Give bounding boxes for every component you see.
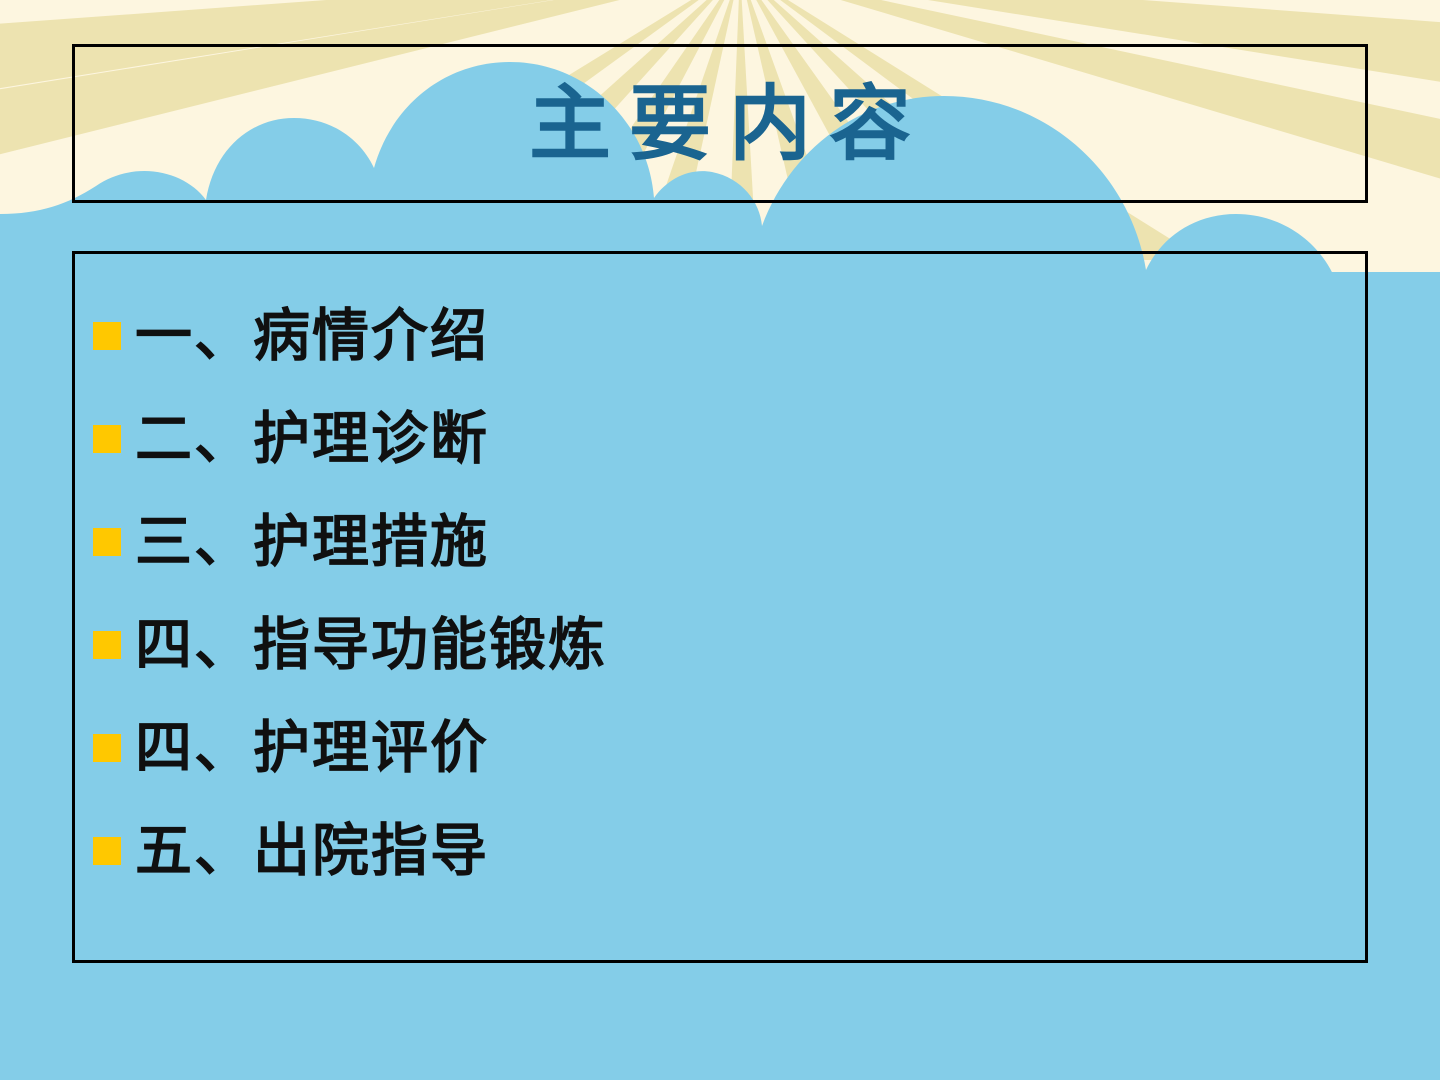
list-item-label: 一、病情介绍 (135, 306, 489, 366)
list-item-label: 三、护理措施 (135, 512, 489, 572)
list-item-label: 四、指导功能锻炼 (135, 615, 607, 675)
list-item[interactable]: 五、出院指导 (93, 799, 1365, 902)
square-bullet-icon (93, 528, 121, 556)
list-item-label: 二、护理诊断 (135, 409, 489, 469)
list-item[interactable]: 三、护理措施 (93, 490, 1365, 593)
square-bullet-icon (93, 322, 121, 350)
square-bullet-icon (93, 734, 121, 762)
agenda-list: 一、病情介绍 二、护理诊断 三、护理措施 四、指导功能锻炼 四、护理评价 五、出… (93, 284, 1365, 902)
list-item[interactable]: 一、病情介绍 (93, 284, 1365, 387)
slide: 主要内容 一、病情介绍 二、护理诊断 三、护理措施 四、指导功能锻炼 四、 (0, 0, 1440, 1080)
square-bullet-icon (93, 425, 121, 453)
square-bullet-icon (93, 631, 121, 659)
list-item[interactable]: 二、护理诊断 (93, 387, 1365, 490)
list-item-label: 五、出院指导 (135, 821, 489, 881)
list-item[interactable]: 四、指导功能锻炼 (93, 593, 1365, 696)
list-item-label: 四、护理评价 (135, 718, 489, 778)
content-box: 一、病情介绍 二、护理诊断 三、护理措施 四、指导功能锻炼 四、护理评价 五、出… (72, 251, 1368, 963)
title-box: 主要内容 (72, 44, 1368, 203)
square-bullet-icon (93, 837, 121, 865)
list-item[interactable]: 四、护理评价 (93, 696, 1365, 799)
page-title: 主要内容 (511, 83, 929, 165)
